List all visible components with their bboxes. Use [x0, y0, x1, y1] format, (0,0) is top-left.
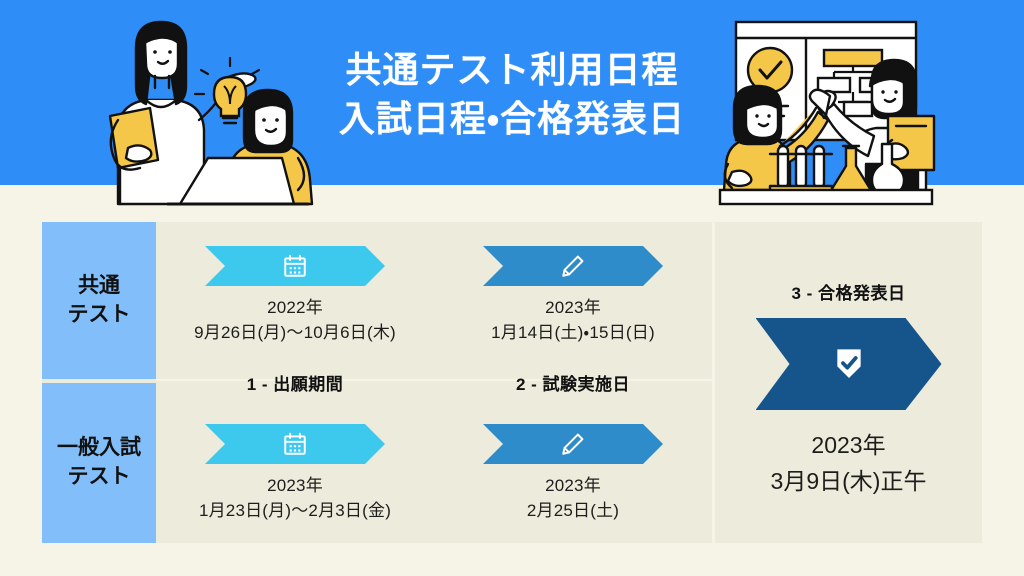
- row-label-common-test: 共通 テスト: [42, 222, 156, 379]
- result-panel-title: 3 - 合格発表日: [715, 279, 982, 304]
- result-date-year: 2023年: [811, 432, 885, 458]
- date-detail: 1月23日(月)〜2月3日(金): [156, 499, 434, 524]
- step-label-1: 1 - 出願期間: [156, 370, 434, 395]
- chevron-banner-navy: [756, 318, 942, 410]
- cell-general-exam-date: 2023年 2月25日(土): [434, 424, 712, 523]
- pencil-icon: [560, 253, 586, 279]
- result-chevron-wrapper: [715, 318, 982, 410]
- cell-common-application-period: 2022年 9月26日(月)〜10月6日(木): [156, 246, 434, 345]
- date-year: 2023年: [545, 476, 601, 495]
- date-year: 2022年: [267, 298, 323, 317]
- page-title-line-1: 共通テスト利用日程: [0, 46, 1024, 95]
- pencil-icon: [560, 431, 586, 457]
- step-label-2: 2 - 試験実施日: [434, 370, 712, 395]
- date-text: 2022年 9月26日(月)〜10月6日(木): [156, 296, 434, 345]
- date-text: 2023年 2月25日(土): [434, 474, 712, 523]
- result-announcement-panel: 3 - 合格発表日 2023年 3月9日(木)正午: [715, 222, 982, 543]
- result-date-detail: 3月9日(木)正午: [715, 464, 982, 500]
- row-label-common-test-line-2: テスト: [68, 301, 131, 330]
- date-detail: 1月14日(土)・15日(日): [434, 321, 712, 346]
- page-title: 共通テスト利用日程 入試日程・合格発表日: [0, 46, 1024, 143]
- calendar-icon: [282, 431, 308, 457]
- date-detail: 2月25日(土): [434, 499, 712, 524]
- date-text: 2023年 1月23日(月)〜2月3日(金): [156, 474, 434, 523]
- date-year: 2023年: [545, 298, 601, 317]
- date-year: 2023年: [267, 476, 323, 495]
- chevron-banner-cyan: [205, 424, 385, 464]
- chevron-banner-blue: [483, 246, 663, 286]
- shield-check-icon: [829, 344, 869, 384]
- row-label-general-exam-line-2: テスト: [57, 463, 141, 492]
- row-label-general-exam: 一般入試 テスト: [42, 383, 156, 543]
- date-text: 2023年 1月14日(土)・15日(日): [434, 296, 712, 345]
- cell-general-application-period: 2023年 1月23日(月)〜2月3日(金): [156, 424, 434, 523]
- row-label-common-test-line-1: 共通: [68, 272, 131, 301]
- row-label-column: 共通 テスト 一般入試 テスト: [42, 222, 156, 543]
- row-label-general-exam-line-1: 一般入試: [57, 434, 141, 463]
- cell-common-exam-date: 2023年 1月14日(土)・15日(日): [434, 246, 712, 345]
- date-detail: 9月26日(月)〜10月6日(木): [156, 321, 434, 346]
- chevron-banner-blue: [483, 424, 663, 464]
- page-title-line-2: 入試日程・合格発表日: [0, 95, 1024, 144]
- chevron-banner-cyan: [205, 246, 385, 286]
- result-date-text: 2023年 3月9日(木)正午: [715, 428, 982, 499]
- calendar-icon: [282, 253, 308, 279]
